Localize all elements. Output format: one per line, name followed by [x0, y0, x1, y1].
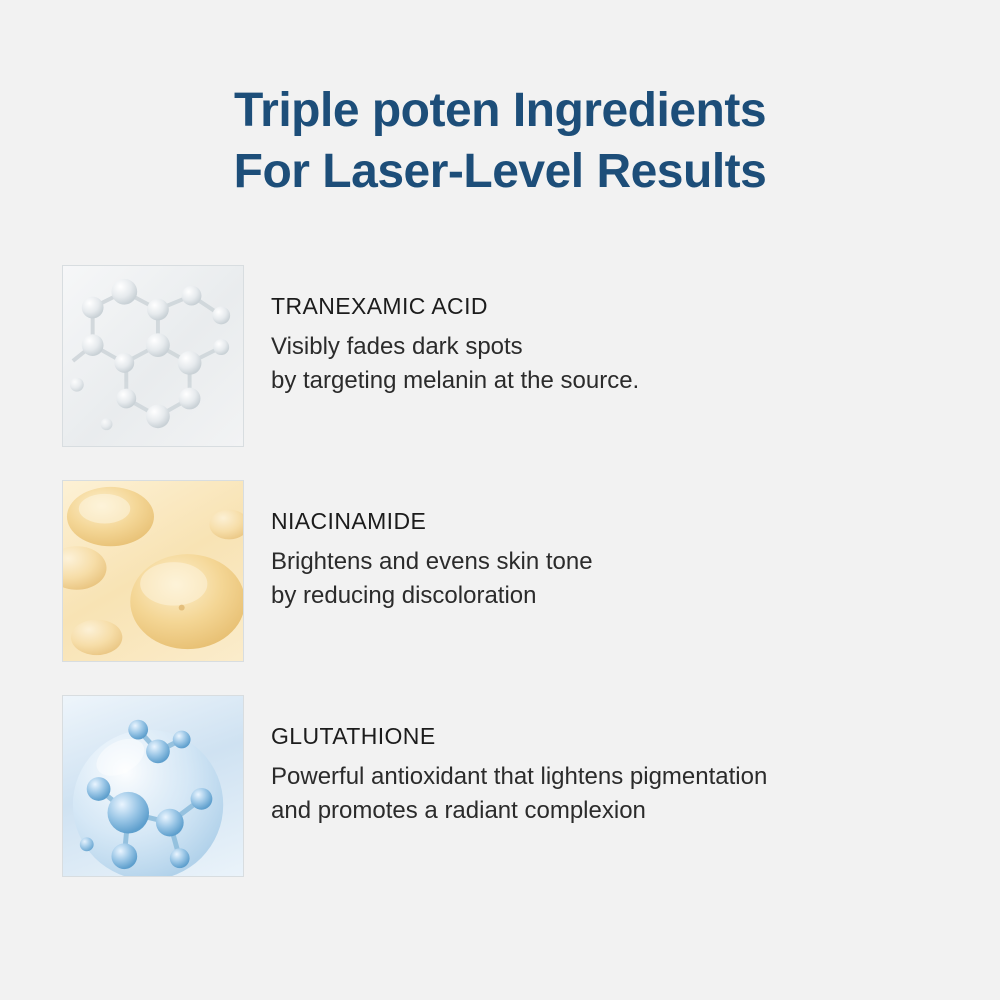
ingredient-description-line-1: Powerful antioxidant that lightens pigme…: [271, 760, 767, 794]
ingredient-description: Brightens and evens skin tone by reducin…: [271, 545, 593, 613]
ingredient-title: GLUTATHIONE: [271, 723, 767, 750]
ingredient-title: NIACINAMIDE: [271, 508, 593, 535]
ingredient-text: NIACINAMIDE Brightens and evens skin ton…: [244, 480, 593, 613]
list-item: GLUTATHIONE Powerful antioxidant that li…: [62, 695, 960, 877]
blue-molecule-bubble-image: [62, 695, 244, 877]
ingredient-description-line-2: and promotes a radiant complexion: [271, 794, 767, 828]
ingredient-list: TRANEXAMIC ACID Visibly fades dark spots…: [0, 265, 1000, 877]
ingredient-text: GLUTATHIONE Powerful antioxidant that li…: [244, 695, 767, 828]
page-title: Triple poten Ingredients For Laser-Level…: [0, 0, 1000, 203]
ingredient-description: Powerful antioxidant that lightens pigme…: [271, 760, 767, 828]
molecule-lattice-grey-image: [62, 265, 244, 447]
ingredient-description-line-1: Visibly fades dark spots: [271, 330, 639, 364]
page-title-line-1: Triple poten Ingredients: [0, 80, 1000, 141]
list-item: TRANEXAMIC ACID Visibly fades dark spots…: [62, 265, 960, 447]
ingredient-description-line-2: by reducing discoloration: [271, 579, 593, 613]
ingredient-description: Visibly fades dark spots by targeting me…: [271, 330, 639, 398]
page-title-line-2: For Laser-Level Results: [0, 141, 1000, 202]
ingredient-text: TRANEXAMIC ACID Visibly fades dark spots…: [244, 265, 639, 398]
ingredient-description-line-2: by targeting melanin at the source.: [271, 364, 639, 398]
amber-serum-droplets-image: [62, 480, 244, 662]
poster-page: Triple poten Ingredients For Laser-Level…: [0, 0, 1000, 1000]
ingredient-title: TRANEXAMIC ACID: [271, 293, 639, 320]
ingredient-description-line-1: Brightens and evens skin tone: [271, 545, 593, 579]
list-item: NIACINAMIDE Brightens and evens skin ton…: [62, 480, 960, 662]
